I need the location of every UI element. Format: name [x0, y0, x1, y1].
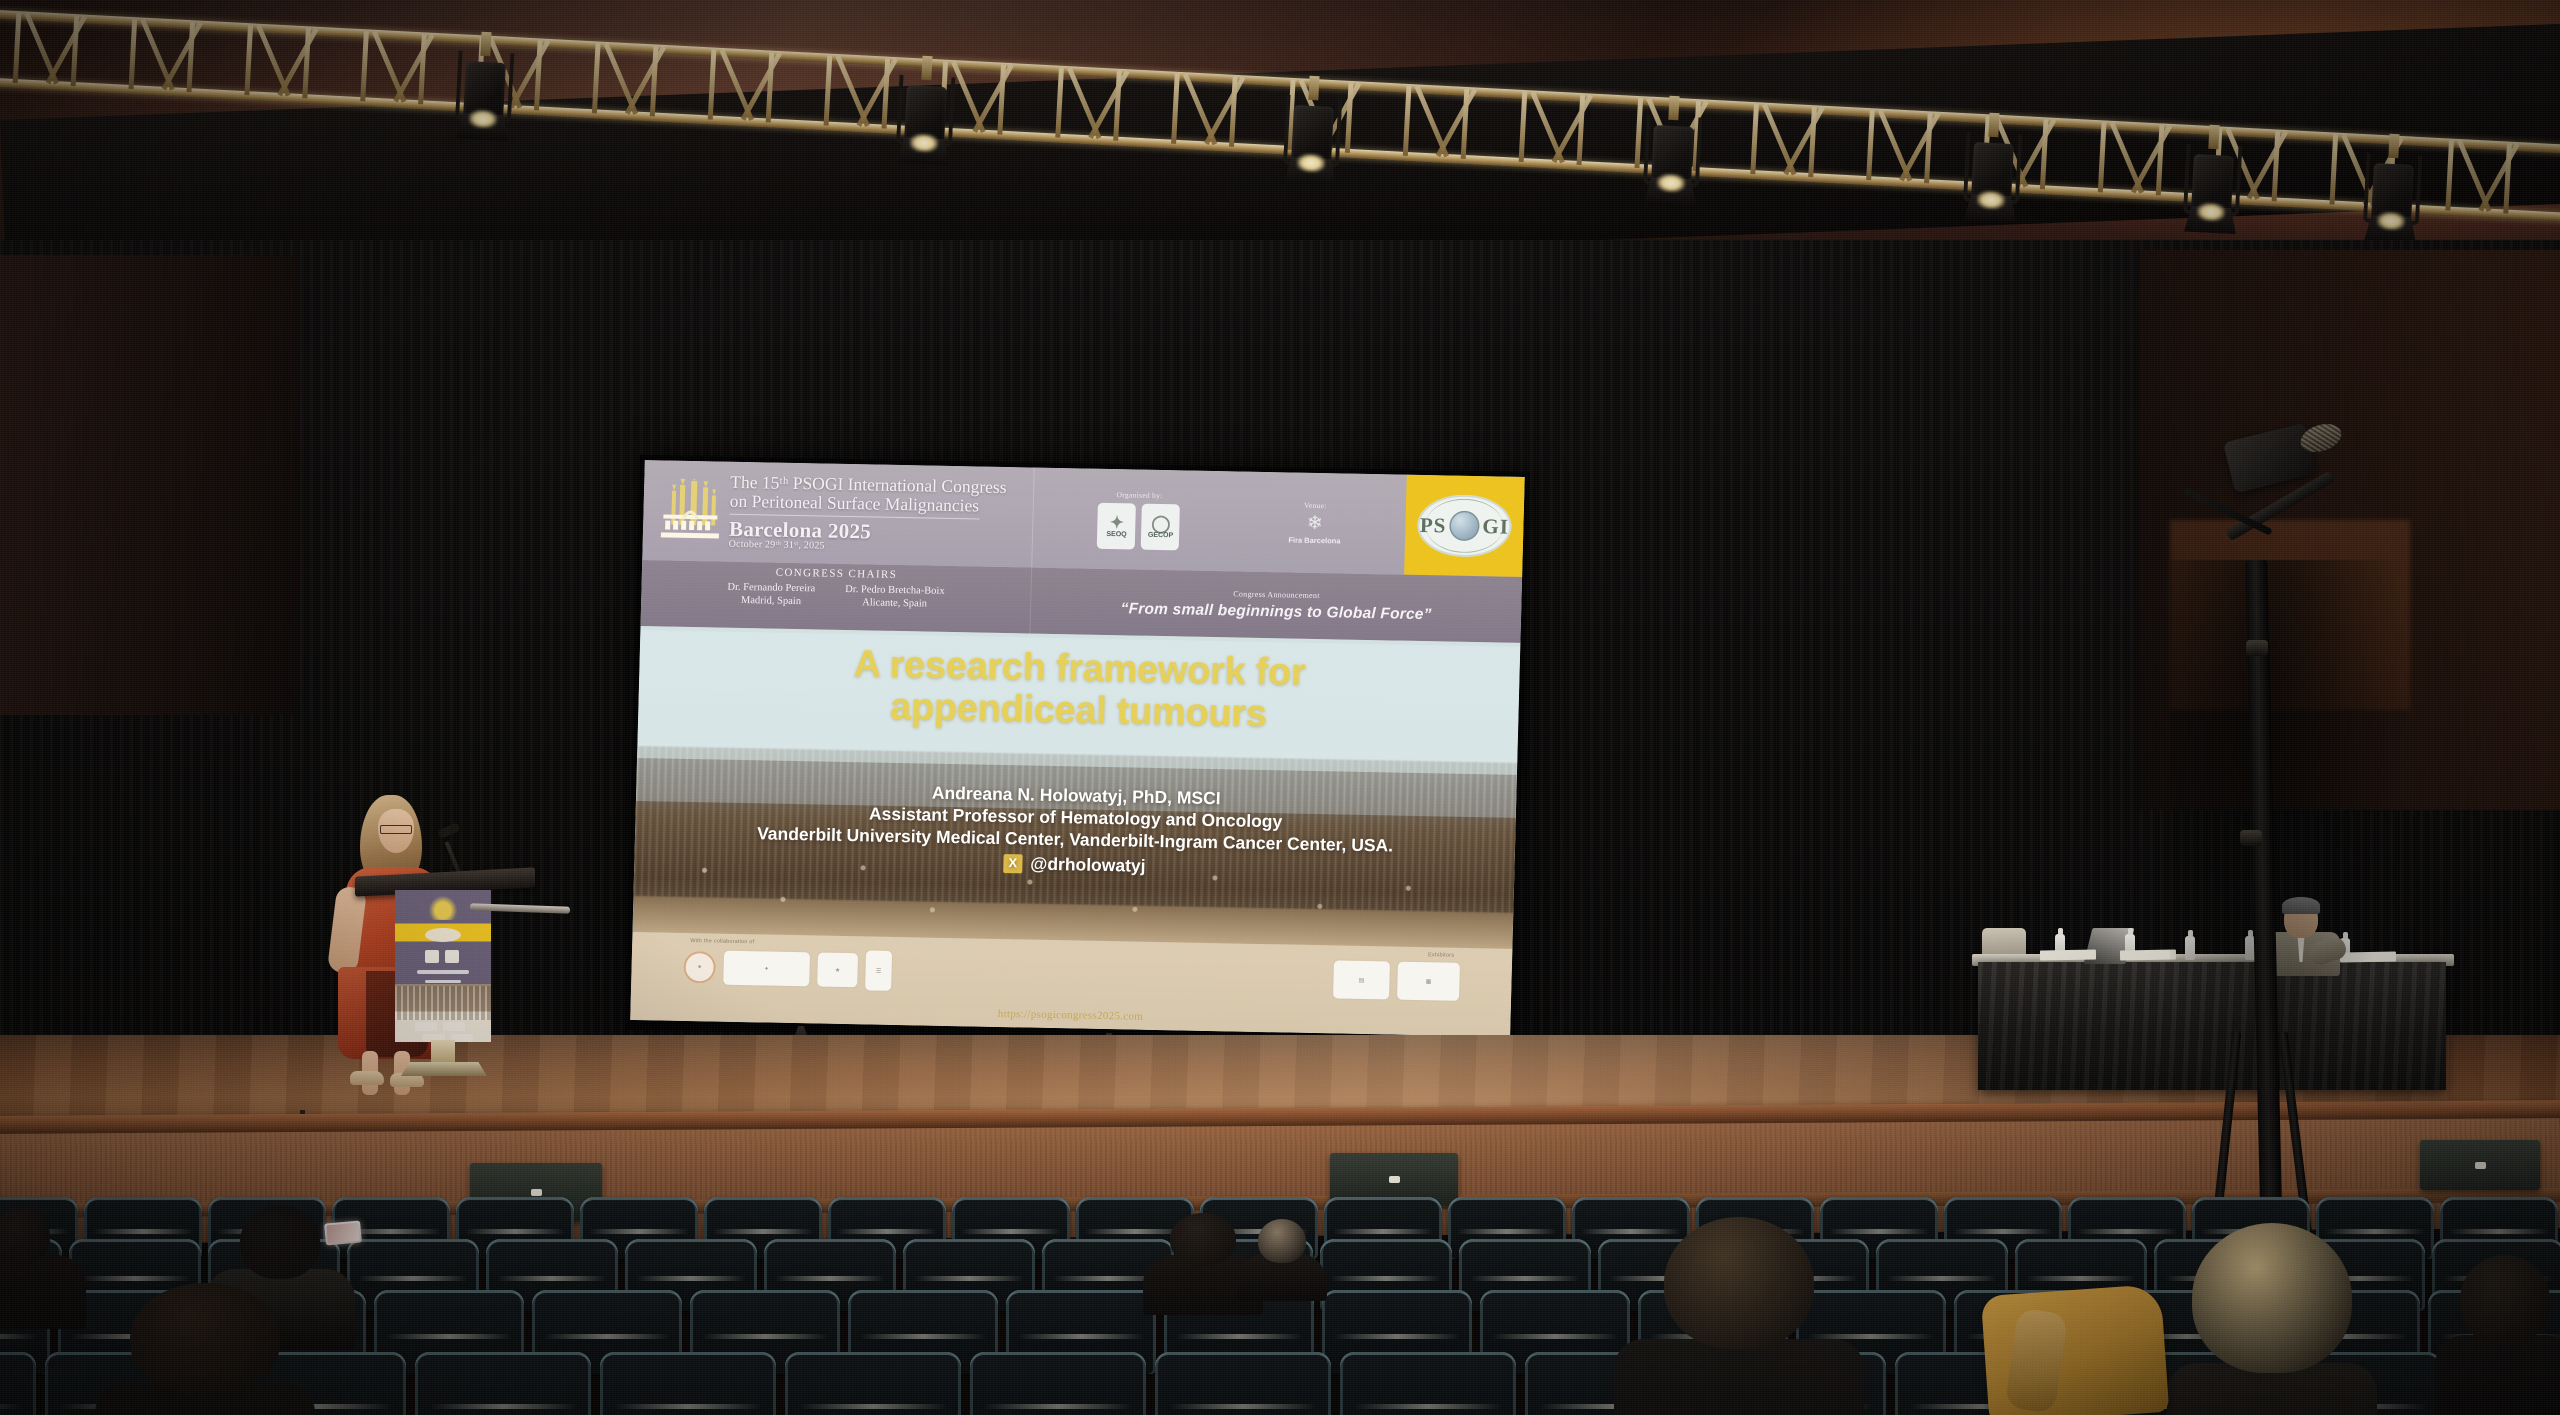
sponsor-logo-3: ★	[817, 952, 858, 987]
truss-strut	[1750, 104, 1759, 174]
stage-spotlight	[1278, 95, 1347, 194]
water-bottle-3	[2185, 936, 2195, 960]
truss-strut	[1403, 86, 1412, 156]
banner-button-1	[415, 1022, 437, 1031]
chair-person: Dr. Pedro Bretcha-BoixAlicante, Spain	[845, 583, 945, 611]
audience-head	[2460, 1255, 2550, 1345]
sponsor-logo-4: ☰	[865, 950, 892, 990]
fira-barcelona-icon: ❄	[1307, 513, 1323, 534]
spotlight-lamp	[1977, 190, 2006, 209]
auditorium-seat[interactable]	[1340, 1352, 1516, 1415]
gecop-logo: ◯ GECOP	[1141, 503, 1180, 550]
truss-diagonal	[46, 15, 87, 84]
projection-screen: The 15ᵗʰ PSOGI International Congress on…	[625, 455, 1530, 1047]
truss-strut	[13, 13, 22, 83]
table-papers-2	[2120, 950, 2176, 961]
exhibitor-logo-2: ▦	[1397, 962, 1460, 1001]
truss-diagonal	[277, 28, 318, 97]
head-table-skirt	[1978, 962, 2446, 1090]
chair-name: Dr. Pedro Bretcha-Boix	[845, 583, 945, 598]
banner-button-2	[443, 1022, 465, 1031]
announcement-quote: “From small beginnings to Global Force”	[1120, 600, 1431, 624]
stage-spotlight	[2358, 153, 2427, 252]
truss-diagonal	[741, 52, 782, 121]
congress-title-block: The 15ᵗʰ PSOGI International Congress on…	[729, 473, 1007, 556]
organised-by-caption: Organised by:	[1098, 489, 1180, 500]
left-wall	[0, 255, 300, 715]
truss-strut	[1171, 74, 1180, 144]
psogi-ring	[1425, 498, 1504, 553]
smartphone-screen	[324, 1220, 362, 1245]
truss-diagonal	[393, 34, 434, 103]
truss-strut	[2445, 140, 2454, 210]
x-twitter-icon: X	[1003, 854, 1022, 873]
stage-spotlight	[1958, 131, 2027, 230]
spotlight-lamp	[2197, 202, 2226, 221]
banner-chip-1	[425, 950, 439, 963]
audience-shoulders	[2435, 1335, 2560, 1415]
audience-shoulders	[1614, 1339, 1864, 1415]
congress-announcement: Congress Announcement “From small beginn…	[1030, 568, 1522, 643]
truss-strut	[592, 43, 601, 113]
presenter-shoe-left	[350, 1071, 384, 1085]
auditorium-seat[interactable]	[0, 1352, 36, 1415]
lectern-base	[401, 1062, 487, 1076]
stage-spotlight	[1638, 114, 1707, 213]
truss-diagonal	[162, 21, 203, 90]
audience-head	[1258, 1219, 1306, 1263]
auditorium-seat[interactable]	[600, 1352, 776, 1415]
auditorium-photo: The 15ᵗʰ PSOGI International Congress on…	[0, 0, 2560, 1415]
venue-caption: Venue:	[1289, 500, 1341, 510]
exhibitor-logo-1: ▤	[1333, 960, 1390, 999]
venue-block: Venue: ❄ Fira Barcelona	[1288, 500, 1341, 545]
venue-name: Fira Barcelona	[1288, 535, 1340, 545]
auditorium-seat[interactable]	[415, 1352, 591, 1415]
banner-chip-2	[445, 950, 459, 963]
stage-spotlight	[450, 51, 519, 150]
auditorium-seat[interactable]	[970, 1352, 1146, 1415]
title-slide: The 15ᵗʰ PSOGI International Congress on…	[630, 460, 1525, 1037]
auditorium-seat[interactable]	[785, 1352, 961, 1415]
spotlight-lamp	[1297, 154, 1326, 173]
banner-line-2	[425, 980, 461, 983]
congress-identity: The 15ᵗʰ PSOGI International Congress on…	[642, 460, 1035, 567]
social-handle: @drholowatyj	[1030, 853, 1146, 877]
seoq-label: SEOQ	[1106, 530, 1126, 537]
truss-strut	[1055, 68, 1064, 138]
moderator-hair	[2282, 897, 2320, 914]
truss-strut	[1866, 110, 1875, 180]
truss-diagonal	[1204, 76, 1245, 145]
presentation-title: A research framework for appendiceal tum…	[638, 640, 1520, 740]
audience-head	[240, 1205, 320, 1279]
gecop-mark-icon: ◯	[1151, 514, 1170, 531]
truss-diagonal	[1899, 113, 1940, 182]
truss-strut	[129, 19, 138, 89]
sponsor-logo-2: ✦	[723, 951, 810, 987]
tripod-knob-upper	[2246, 640, 2268, 656]
audience-head	[0, 1207, 50, 1265]
chair-person: Dr. Fernando PereiraMadrid, Spain	[727, 581, 815, 609]
chair-city: Alicante, Spain	[845, 596, 945, 611]
header-sponsors: Organised by: ✦ SEOQ ◯ GECOP	[1032, 468, 1407, 575]
banner-psogi-oval	[425, 928, 461, 942]
sponsor-logo-1: ●	[683, 951, 716, 984]
congress-chairs: CONGRESS CHAIRS Dr. Fernando PereiraMadr…	[641, 560, 1033, 633]
audience-seating	[0, 1195, 2560, 1415]
truss-diagonal	[1088, 70, 1129, 139]
spotlight-lamp	[469, 109, 498, 128]
table-papers-1	[2040, 950, 2096, 961]
truss-diagonal	[2478, 143, 2519, 212]
audience-head	[130, 1283, 280, 1393]
gecop-label: GECOP	[1148, 531, 1173, 538]
presenter-block: Andreana N. Holowatyj, PhD, MSCI Assista…	[634, 776, 1516, 884]
truss-strut	[244, 25, 253, 95]
audience-head	[1664, 1217, 1814, 1349]
truss-strut	[360, 31, 369, 101]
auditorium-seat[interactable]	[1155, 1352, 1331, 1415]
stage-spotlight	[891, 74, 960, 173]
banner-logo-icon	[429, 896, 457, 920]
glasses-icon	[380, 825, 412, 834]
footer-logos-left: ● ✦ ★ ☰	[683, 947, 892, 991]
footer-logos-right: ▤ ▦	[1333, 960, 1460, 1000]
truss-strut	[2098, 122, 2107, 192]
seoq-logo: ✦ SEOQ	[1097, 502, 1136, 549]
lectern	[395, 872, 491, 1072]
psogi-logo: PS GI	[1404, 475, 1525, 577]
truss-diagonal	[1783, 106, 1824, 175]
audience-shoulders	[0, 1255, 86, 1329]
truss-diagonal	[2247, 131, 2288, 200]
congress-url: https://psogicongress2025.com	[630, 1001, 1510, 1030]
truss-diagonal	[1436, 88, 1477, 157]
sagrada-familia-icon	[659, 478, 723, 543]
footer-right-caption: Exhibitors	[1428, 952, 1454, 959]
audience-head	[2192, 1223, 2352, 1373]
title-line-2: appendiceal tumours	[890, 686, 1268, 735]
truss-diagonal	[972, 64, 1013, 133]
truss-diagonal	[857, 58, 898, 127]
stage-spotlight	[2178, 143, 2247, 242]
truss-strut	[1519, 92, 1528, 162]
truss-diagonal	[2131, 125, 2172, 194]
tripod-knob-lower	[2240, 830, 2262, 846]
stage-floor-monitor-3	[2420, 1140, 2540, 1190]
slide-header: The 15ᵗʰ PSOGI International Congress on…	[642, 460, 1524, 577]
truss-strut	[2330, 134, 2339, 204]
chair-city: Madrid, Spain	[727, 594, 815, 609]
congress-line-2: on Peritoneal Surface Malignancies	[730, 492, 1007, 516]
footer-left-caption: With the collaboration of	[690, 938, 754, 945]
draped-jacket	[1981, 1284, 2169, 1415]
truss-diagonal	[625, 46, 666, 115]
announcement-caption: Congress Announcement	[1233, 589, 1320, 600]
seoq-mark-icon: ✦	[1110, 514, 1125, 531]
spotlight-lamp	[1657, 173, 1686, 192]
right-wall-panel	[2170, 520, 2410, 710]
spotlight-lamp	[2377, 212, 2406, 231]
spotlight-lamp	[910, 133, 939, 152]
lectern-banner	[395, 890, 491, 1042]
truss-strut	[824, 55, 833, 125]
banner-line-1	[417, 970, 469, 974]
banner-city-photo	[395, 986, 491, 1020]
slide-footer: With the collaboration of Exhibitors ● ✦…	[630, 932, 1512, 1037]
organised-by-block: Organised by: ✦ SEOQ ◯ GECOP	[1097, 489, 1181, 550]
audience-head	[1170, 1213, 1236, 1265]
truss-diagonal	[1552, 94, 1593, 163]
truss-strut	[708, 49, 717, 119]
